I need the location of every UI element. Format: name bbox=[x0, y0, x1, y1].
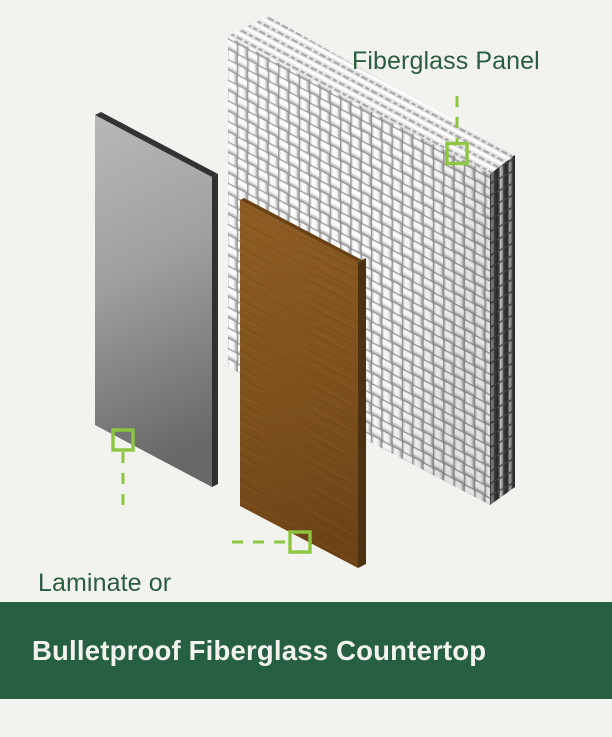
label-fiberglass-panel: Fiberglass Panel bbox=[352, 47, 540, 75]
wood-right-edge bbox=[358, 258, 366, 568]
title-banner: Bulletproof Fiberglass Countertop bbox=[0, 602, 612, 699]
laminate-right-edge bbox=[212, 174, 218, 487]
label-laminate-line1: Laminate or bbox=[38, 569, 190, 597]
wood-veneer-panel bbox=[240, 198, 366, 568]
fiberglass-side-face bbox=[490, 155, 515, 505]
exploded-diagram: Fiberglass Panel Laminate or Wood Veneer… bbox=[0, 0, 612, 699]
banner-title: Bulletproof Fiberglass Countertop bbox=[32, 635, 486, 667]
